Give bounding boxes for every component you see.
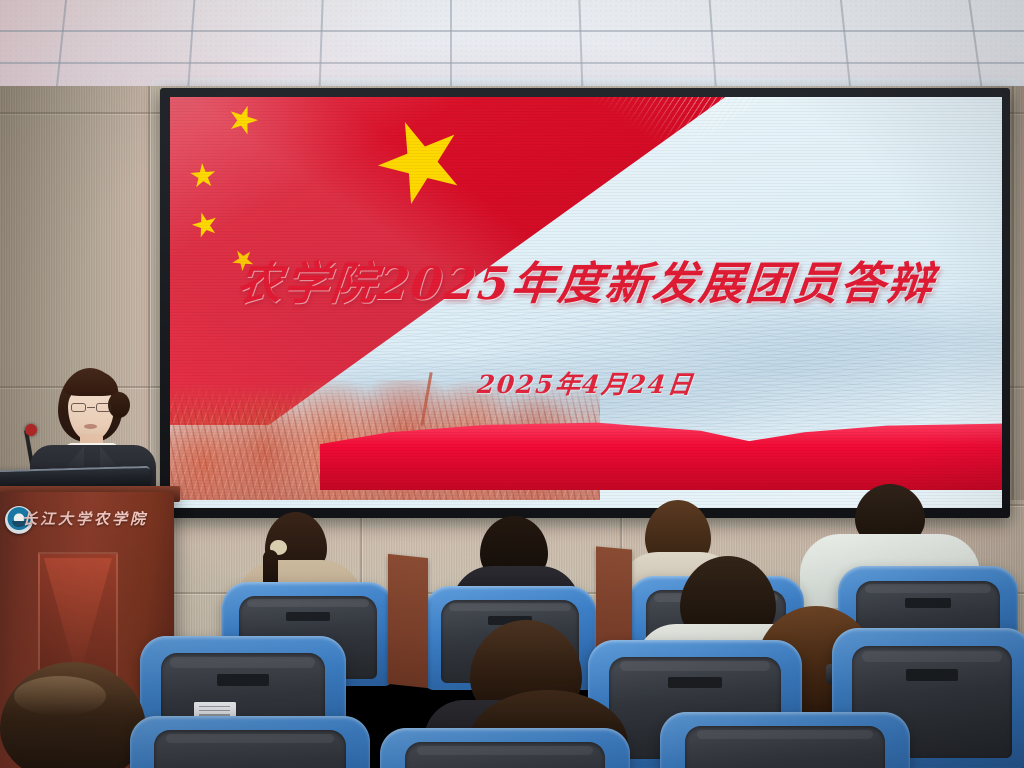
seat-back-slot [668, 677, 723, 688]
led-display-screen: 农学院2025年度新发展团员答辩 2025年4月24日 [160, 88, 1010, 518]
ceiling [0, 0, 1024, 96]
eyeglasses-icon [71, 403, 111, 412]
podium-institution-label: 长江大学农学院 [22, 508, 162, 529]
slide-date: 2025年4月24日 [170, 365, 1002, 401]
seat-back [405, 742, 605, 768]
seat-back-slot [905, 598, 951, 608]
presenter-mouth [84, 424, 97, 429]
auditorium-seat[interactable] [380, 728, 630, 768]
ceiling-tile-grid [0, 0, 1024, 96]
microphone-icon [25, 424, 37, 436]
seat-back-slot [217, 674, 270, 686]
audience-hair-highlight [14, 676, 106, 716]
presenter-hair-tie [108, 392, 130, 418]
seat-back-slot [906, 669, 957, 681]
row-desk-rail [388, 554, 428, 688]
seat-back-slot [286, 612, 330, 621]
seat-back [685, 726, 885, 768]
presentation-slide: 农学院2025年度新发展团员答辩 2025年4月24日 [170, 97, 1002, 508]
slide-title: 农学院2025年度新发展团员答辩 [170, 247, 1002, 312]
seat-back [154, 730, 346, 768]
auditorium-seat[interactable] [660, 712, 910, 768]
lecture-hall-photo: 农学院2025年度新发展团员答辩 2025年4月24日 长江大学农学院 [0, 0, 1024, 768]
auditorium-seat[interactable] [130, 716, 370, 768]
